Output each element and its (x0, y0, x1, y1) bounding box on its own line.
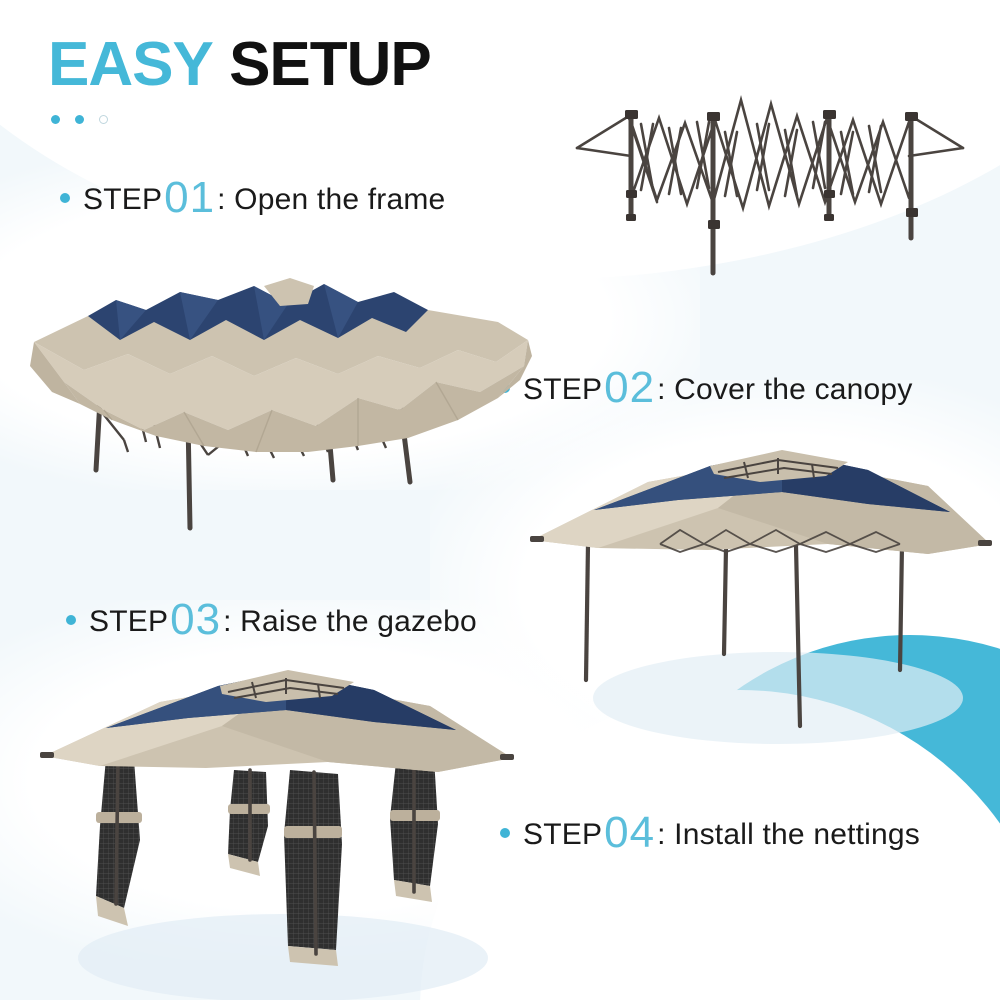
step-02-word: STEP (523, 373, 602, 407)
gazebo-raised-image (528, 448, 993, 743)
step-03-number: 03 (168, 595, 223, 645)
canopy-cover-illustration (28, 270, 533, 535)
step-01-caption: STEP 01 : Open the frame (60, 170, 445, 220)
step-01-number: 01 (162, 173, 217, 223)
step-02-text: : Cover the canopy (657, 373, 912, 407)
netting-tie-straps (96, 804, 440, 838)
pager-dot-1 (51, 115, 60, 124)
gazebo-canopy-cover-image (28, 270, 533, 535)
step-04-word: STEP (523, 818, 602, 852)
step-03-word: STEP (89, 605, 168, 639)
ground-shadow (78, 914, 488, 1000)
title-dark-word: SETUP (229, 30, 431, 99)
ground-shadow (593, 652, 963, 744)
pager-dot-2 (75, 115, 84, 124)
step-04-caption: STEP 04 : Install the nettings (500, 805, 920, 855)
step-01-word: STEP (83, 183, 162, 217)
step-02-caption: STEP 02 : Cover the canopy (500, 360, 913, 410)
gazebo-frame-illustration (545, 78, 995, 273)
bullet-icon (60, 193, 70, 203)
step-03-caption: STEP 03 : Raise the gazebo (66, 592, 477, 642)
header: EASY SETUP (48, 34, 431, 124)
netting-gazebo-illustration (38, 658, 518, 993)
title-accent-word: EASY (48, 30, 213, 99)
step-04-number: 04 (602, 808, 657, 858)
raised-gazebo-illustration (528, 448, 993, 743)
page-title: EASY SETUP (48, 34, 431, 96)
step-03-text: : Raise the gazebo (223, 605, 477, 639)
step-01-text: : Open the frame (217, 183, 445, 217)
step-04-text: : Install the nettings (657, 818, 920, 852)
pager-dots (51, 115, 431, 124)
gazebo-frame-image (545, 78, 995, 273)
pager-dot-3 (99, 115, 108, 124)
infographic-canvas: EASY SETUP STEP 01 : Open the frame STEP… (0, 0, 1000, 1000)
bullet-icon (66, 615, 76, 625)
gazebo-netting-image (38, 658, 518, 993)
step-02-number: 02 (602, 363, 657, 413)
